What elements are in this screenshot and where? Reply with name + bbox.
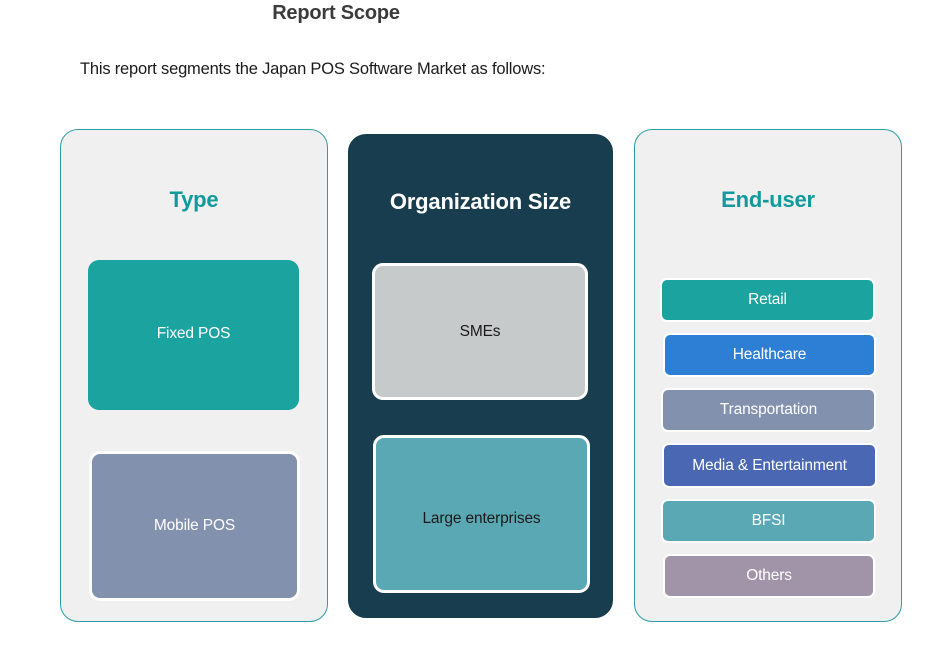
report-scope-infographic: Report Scope This report segments the Ja… xyxy=(0,0,942,655)
segment-item-fixed-pos[interactable]: Fixed POS xyxy=(88,260,299,410)
segment-item-mobile-pos[interactable]: Mobile POS xyxy=(89,451,300,601)
segment-item-healthcare[interactable]: Healthcare xyxy=(663,333,876,377)
segment-item-transportation[interactable]: Transportation xyxy=(661,388,876,432)
segment-title-organization-size: Organization Size xyxy=(349,189,612,215)
segment-card-end-user: End-user Retail Healthcare Transportatio… xyxy=(634,129,902,622)
segment-title-end-user: End-user xyxy=(635,187,901,213)
segment-item-label: Fixed POS xyxy=(88,325,299,342)
page-subtitle: This report segments the Japan POS Softw… xyxy=(80,60,545,79)
segment-item-retail[interactable]: Retail xyxy=(660,278,875,322)
segment-item-label: Transportation xyxy=(720,401,817,419)
segment-item-label: Large enterprises xyxy=(376,510,587,527)
segment-item-label: Others xyxy=(746,567,792,585)
segment-item-label: Healthcare xyxy=(733,346,806,364)
segment-item-label: Media & Entertainment xyxy=(692,457,847,475)
page-title: Report Scope xyxy=(0,2,672,25)
segment-item-large-enterprises[interactable]: Large enterprises xyxy=(373,435,590,593)
segment-item-label: Mobile POS xyxy=(92,517,297,534)
segment-item-others[interactable]: Others xyxy=(663,554,875,598)
segment-item-smes[interactable]: SMEs xyxy=(372,263,588,400)
segment-card-organization-size: Organization Size SMEs Large enterprises xyxy=(348,134,613,618)
segment-item-label: Retail xyxy=(748,291,787,309)
segment-item-media-entertainment[interactable]: Media & Entertainment xyxy=(662,443,877,488)
segment-card-type: Type Fixed POS Mobile POS xyxy=(60,129,328,622)
segment-item-bfsi[interactable]: BFSI xyxy=(661,499,876,543)
segment-item-label: SMEs xyxy=(375,323,585,340)
segment-item-label: BFSI xyxy=(752,512,786,530)
segment-title-type: Type xyxy=(61,187,327,213)
